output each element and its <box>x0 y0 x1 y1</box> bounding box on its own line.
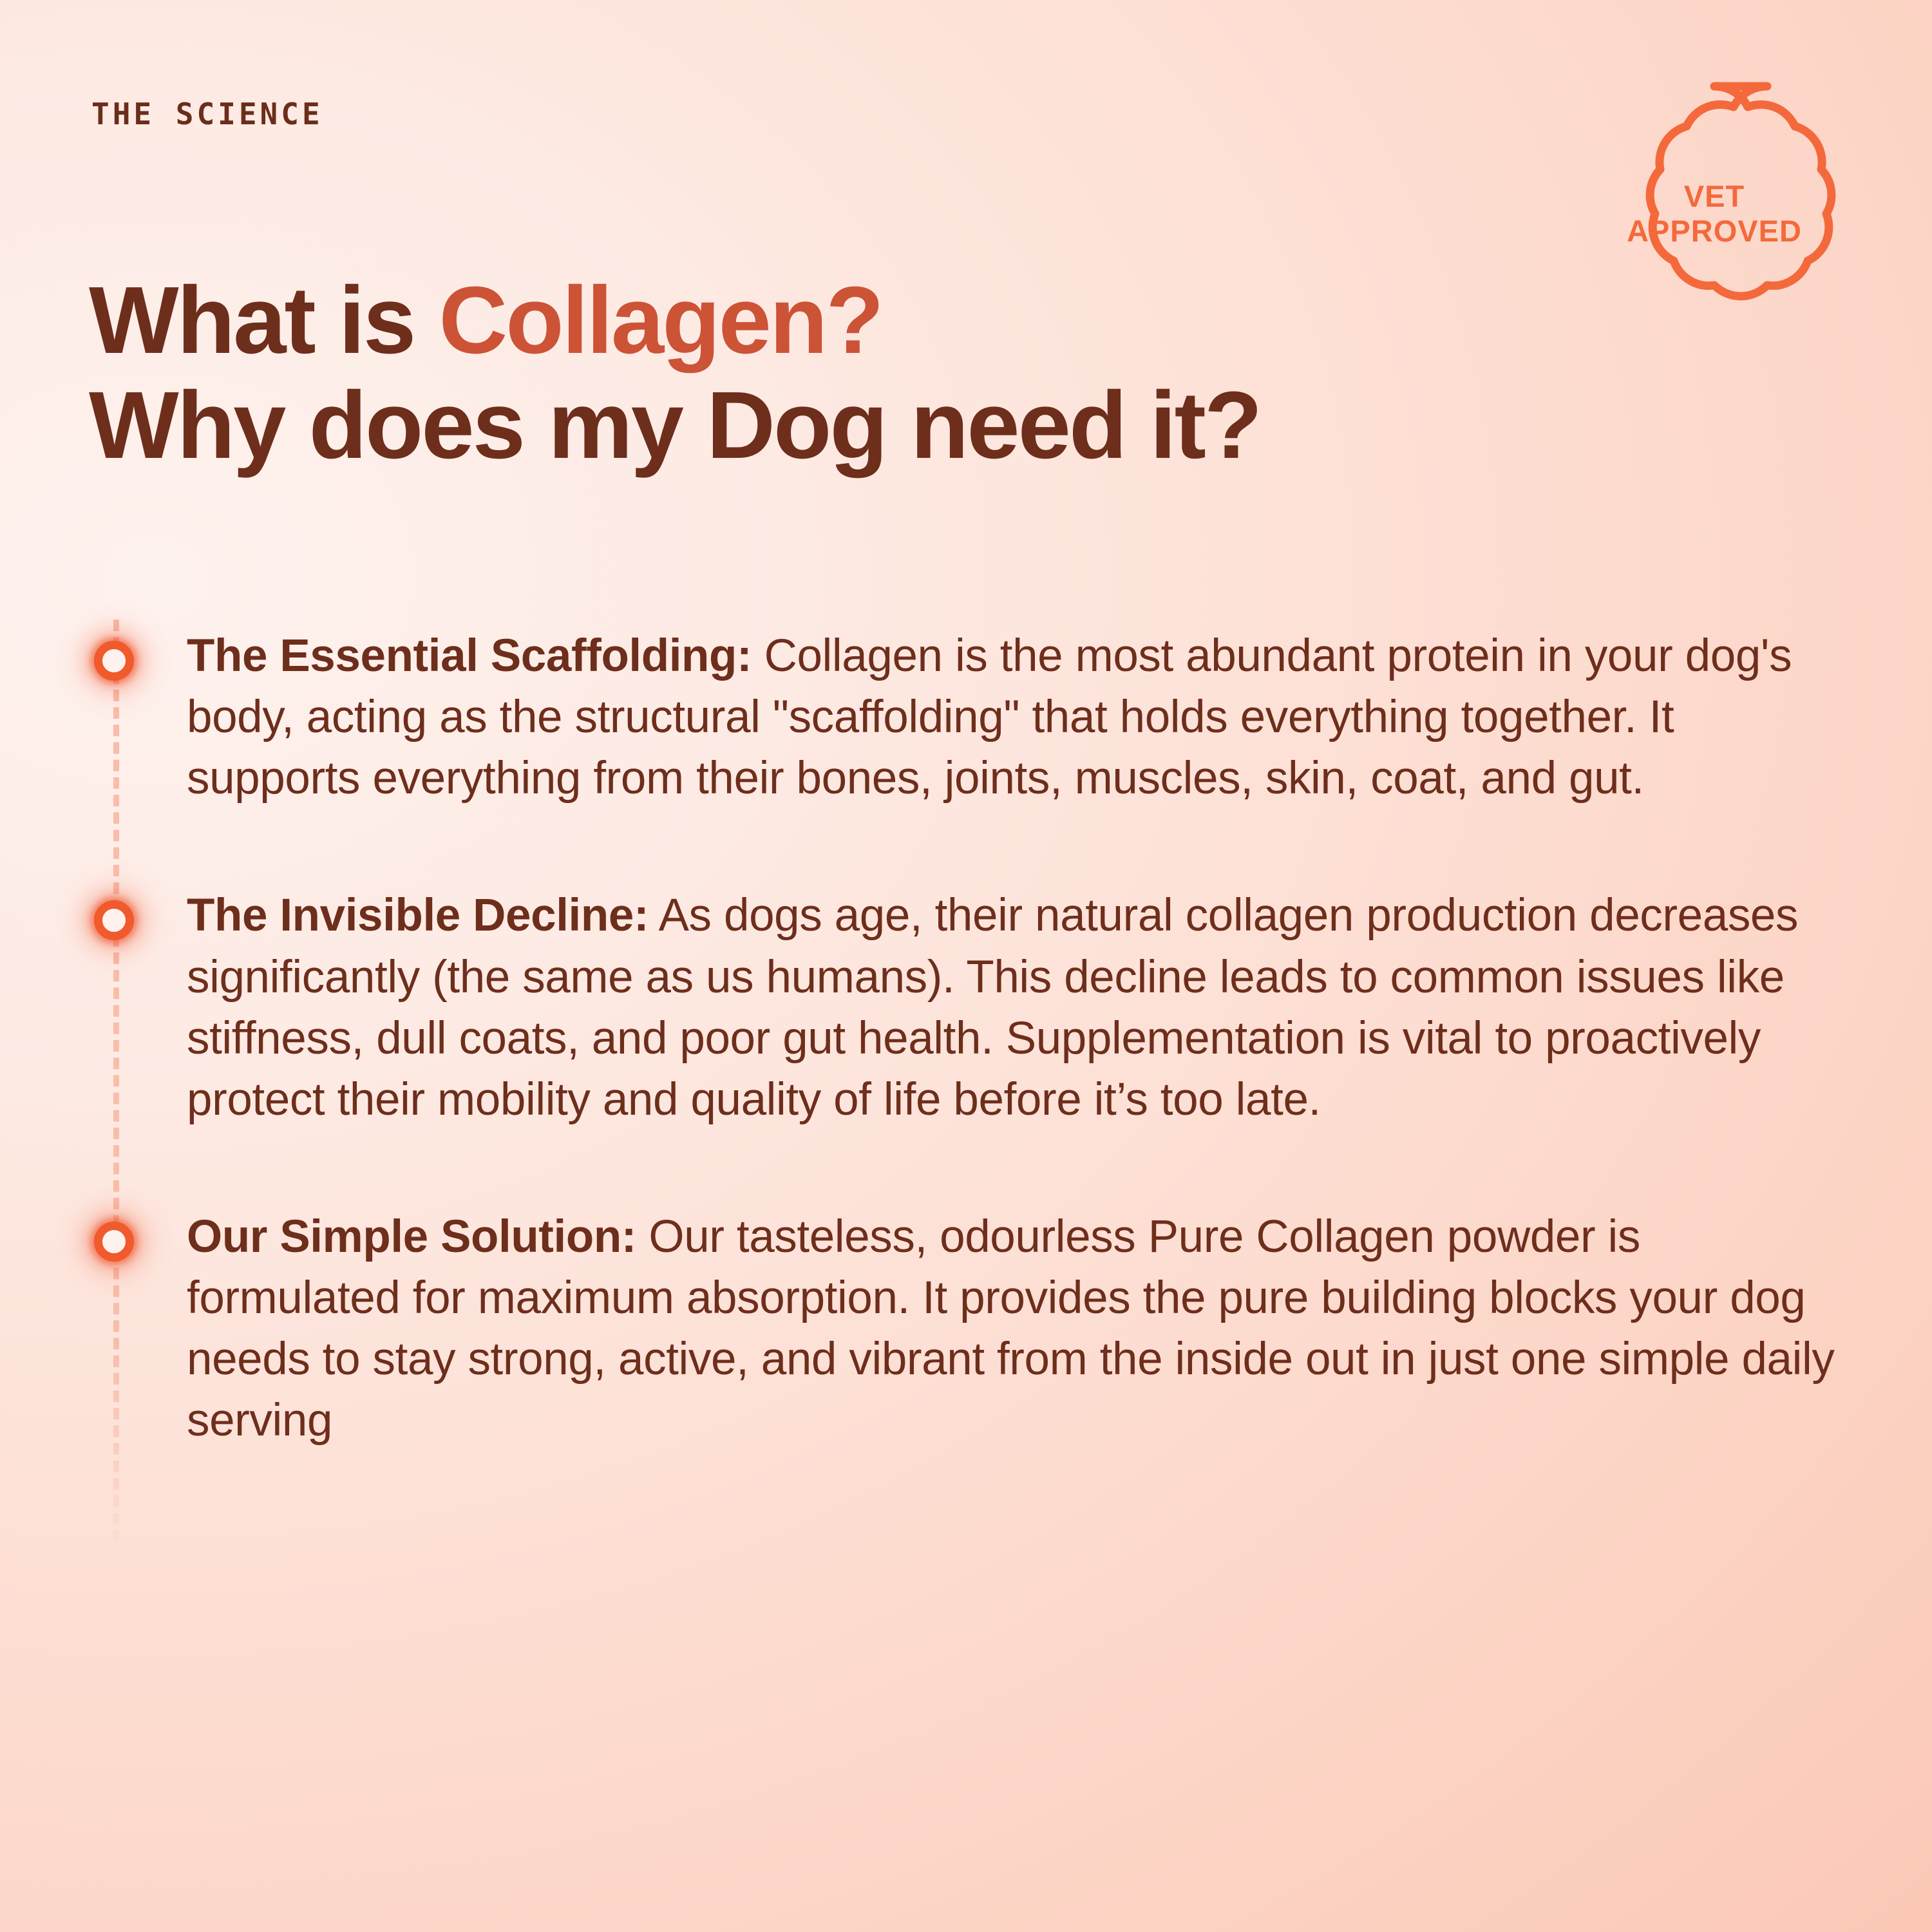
headline-line-1-dark: What is <box>89 267 439 374</box>
list-item-lead: Our Simple Solution: <box>187 1211 636 1262</box>
headline-line-1: What is Collagen? <box>89 269 1634 374</box>
list-item: The Essential Scaffolding: Collagen is t… <box>0 625 1932 809</box>
eyebrow-label: THE SCIENCE <box>91 97 323 131</box>
list-item: Our Simple Solution: Our tasteless, odou… <box>0 1206 1932 1452</box>
ring-marker-icon <box>94 900 134 940</box>
bullet-list: The Essential Scaffolding: Collagen is t… <box>0 580 1932 1527</box>
headline-line-1-accent: Collagen? <box>439 267 882 374</box>
list-item: The Invisible Decline: As dogs age, thei… <box>0 885 1932 1130</box>
vet-approved-badge: VET APPROVED <box>1573 72 1856 355</box>
list-item-body: Our Simple Solution: Our tasteless, odou… <box>187 1206 1848 1452</box>
list-item-lead: The Essential Scaffolding: <box>187 630 752 681</box>
list-item-lead: The Invisible Decline: <box>187 890 649 941</box>
page-title: What is Collagen? Why does my Dog need i… <box>89 269 1634 478</box>
scalloped-seal-icon <box>1573 72 1856 355</box>
headline-line-2: Why does my Dog need it? <box>89 374 1634 478</box>
list-item-body: The Essential Scaffolding: Collagen is t… <box>187 625 1848 809</box>
ring-marker-icon <box>94 641 134 681</box>
list-item-body: The Invisible Decline: As dogs age, thei… <box>187 885 1848 1130</box>
ring-marker-icon <box>94 1222 134 1262</box>
collagen-science-poster: THE SCIENCE What is Collagen? Why does m… <box>0 0 1932 1932</box>
